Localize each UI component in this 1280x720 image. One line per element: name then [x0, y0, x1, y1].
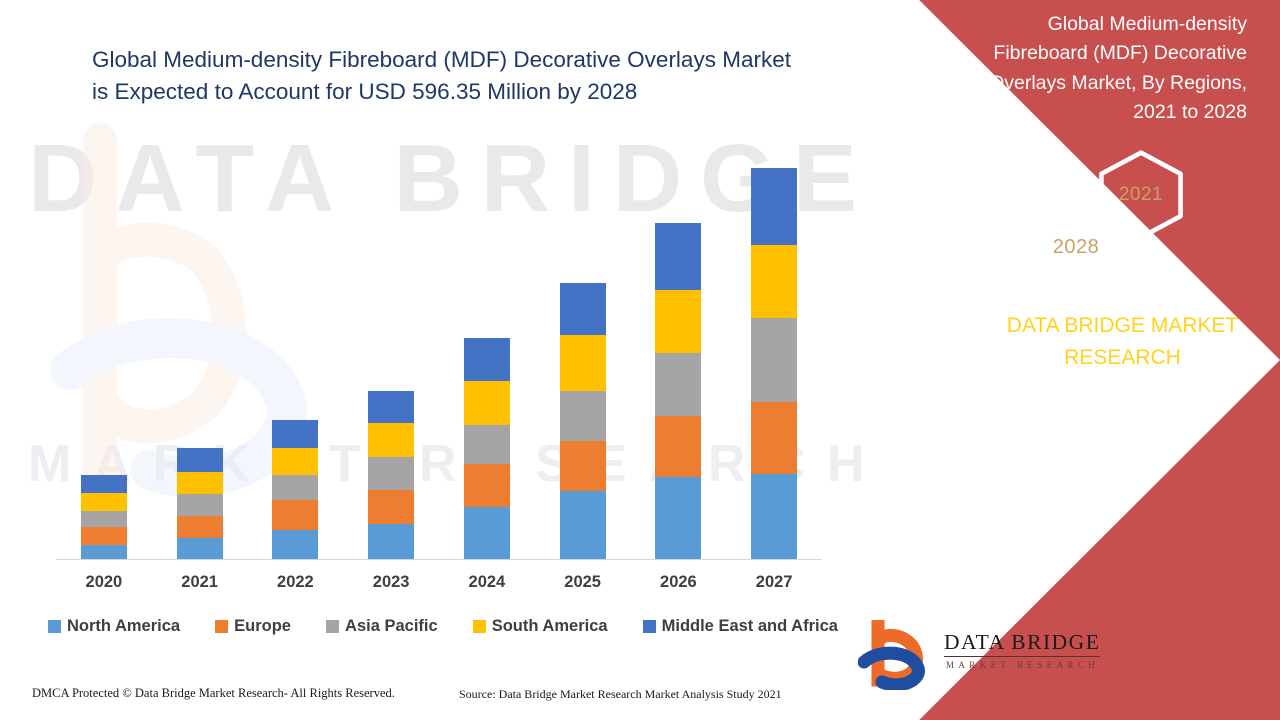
bar-segment: [655, 477, 701, 559]
chart-plot-area: [56, 140, 822, 560]
bar-segment: [177, 516, 223, 538]
legend-label: Europe: [234, 617, 291, 636]
stacked-bar: [464, 338, 510, 559]
legend-swatch-icon: [473, 620, 486, 633]
legend-swatch-icon: [48, 620, 61, 633]
bar-segment: [560, 441, 606, 491]
bar-segment: [464, 507, 510, 559]
bar-column: [343, 140, 439, 559]
bar-segment: [81, 527, 127, 546]
bar-segment: [464, 338, 510, 381]
legend-swatch-icon: [643, 620, 656, 633]
bar-segment: [560, 391, 606, 440]
legend-item[interactable]: Asia Pacific: [326, 617, 438, 636]
x-axis-label: 2020: [56, 573, 152, 592]
bar-column: [248, 140, 344, 559]
bar-segment: [655, 416, 701, 478]
stacked-bar: [81, 475, 127, 559]
x-axis-labels: 20202021202220232024202520262027: [56, 573, 822, 592]
bar-segment: [177, 538, 223, 559]
bar-segment: [464, 381, 510, 425]
panel-title: Global Medium-density Fibreboard (MDF) D…: [977, 10, 1247, 127]
source-text: Source: Data Bridge Market Research Mark…: [459, 687, 782, 702]
legend-swatch-icon: [215, 620, 228, 633]
x-axis-label: 2024: [439, 573, 535, 592]
x-axis-line: [56, 559, 822, 560]
x-axis-label: 2025: [535, 573, 631, 592]
stacked-bar: [177, 448, 223, 559]
infographic-root: DATA BRIDGE MARKET RESEARCH Global Mediu…: [0, 0, 1280, 720]
bar-segment: [368, 524, 414, 559]
x-axis-label: 2021: [152, 573, 248, 592]
bar-segment: [368, 457, 414, 489]
bar-segment: [177, 448, 223, 472]
legend-item[interactable]: Europe: [215, 617, 291, 636]
legend-label: Asia Pacific: [345, 617, 438, 636]
right-panel: Global Medium-density Fibreboard (MDF) D…: [840, 0, 1280, 720]
data-bridge-mark-icon: [858, 620, 938, 690]
copyright-text: DMCA Protected © Data Bridge Market Rese…: [32, 686, 395, 701]
bar-segment: [751, 245, 797, 318]
bar-segment: [655, 290, 701, 353]
bar-segment: [560, 491, 606, 559]
legend-swatch-icon: [326, 620, 339, 633]
stacked-bar: [751, 168, 797, 559]
bar-segment: [368, 490, 414, 525]
legend-item[interactable]: Middle East and Africa: [643, 617, 838, 636]
bar-column: [152, 140, 248, 559]
hexagon-label-2028: 2028: [1053, 236, 1100, 259]
bar-segment: [272, 420, 318, 448]
bar-segment: [177, 494, 223, 516]
logo-tagline: MARKET RESEARCH: [946, 660, 1099, 670]
page-title: Global Medium-density Fibreboard (MDF) D…: [92, 44, 812, 108]
chart-legend: North AmericaEuropeAsia PacificSouth Ame…: [48, 617, 838, 636]
stacked-bar: [655, 223, 701, 559]
bar-column: [726, 140, 822, 559]
bar-column: [631, 140, 727, 559]
bar-segment: [272, 448, 318, 475]
bar-segment: [272, 475, 318, 500]
bar-segment: [368, 391, 414, 422]
bar-segment: [177, 472, 223, 494]
bar-segment: [560, 335, 606, 392]
hexagon-badge-2028: 2028: [1020, 190, 1132, 304]
legend-label: South America: [492, 617, 608, 636]
bar-group: [56, 140, 822, 559]
bar-column: [535, 140, 631, 559]
logo-divider: [944, 656, 1100, 657]
brand-name: DATA BRIDGE MARKET RESEARCH: [840, 310, 1280, 373]
legend-item[interactable]: North America: [48, 617, 180, 636]
company-logo: DATA BRIDGE MARKET RESEARCH: [858, 620, 1108, 692]
bar-column: [56, 140, 152, 559]
stacked-bar: [272, 420, 318, 559]
bar-segment: [464, 464, 510, 507]
x-axis-label: 2023: [343, 573, 439, 592]
bar-segment: [81, 493, 127, 511]
hexagon-badges: 2021 2028: [995, 148, 1235, 293]
bar-segment: [368, 423, 414, 458]
legend-label: Middle East and Africa: [662, 617, 838, 636]
x-axis-label: 2026: [631, 573, 727, 592]
bar-segment: [655, 353, 701, 416]
bar-segment: [560, 283, 606, 335]
bar-column: [439, 140, 535, 559]
bar-segment: [272, 500, 318, 529]
stacked-bar: [368, 391, 414, 559]
bar-segment: [751, 318, 797, 402]
bar-segment: [81, 475, 127, 493]
legend-item[interactable]: South America: [473, 617, 608, 636]
bar-segment: [81, 511, 127, 527]
bar-segment: [81, 545, 127, 559]
bar-segment: [272, 530, 318, 559]
bar-segment: [464, 425, 510, 464]
bar-segment: [751, 168, 797, 244]
x-axis-label: 2022: [248, 573, 344, 592]
legend-label: North America: [67, 617, 180, 636]
x-axis-label: 2027: [726, 573, 822, 592]
bar-segment: [751, 474, 797, 559]
stacked-bar: [560, 283, 606, 560]
logo-wordmark: DATA BRIDGE: [944, 630, 1100, 655]
bar-segment: [751, 402, 797, 474]
bar-segment: [655, 223, 701, 290]
